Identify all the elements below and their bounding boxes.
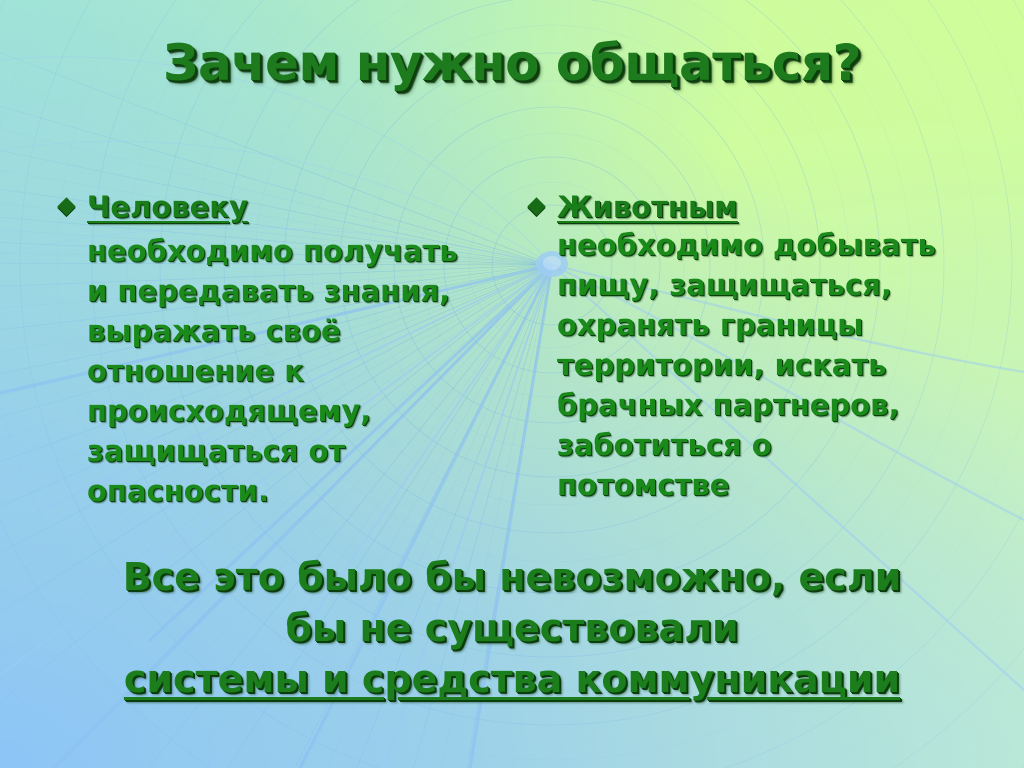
column-animals-body: необходимо добывать пищу, защищаться, ох…: [557, 225, 970, 505]
content-columns: Человеку необходимо получать и передават…: [0, 190, 1024, 540]
text-line: территории, искать: [557, 345, 970, 385]
text-line: защищаться от: [87, 431, 510, 471]
slide-title: Зачем нужно общаться?: [0, 34, 1024, 92]
text-line: потомстве: [557, 465, 970, 505]
column-human: Человеку необходимо получать и передават…: [60, 190, 510, 511]
diamond-bullet-icon: [57, 197, 75, 215]
text-line: отношение к: [87, 351, 510, 391]
column-animals-lead: Животным: [557, 190, 738, 225]
column-human-lead: Человеку: [87, 190, 248, 225]
text-line: брачных партнеров,: [557, 385, 970, 425]
diamond-bullet-icon: [527, 197, 545, 215]
text-line: необходимо получать: [87, 231, 510, 271]
column-animals: Животным необходимо добывать пищу, защищ…: [530, 190, 970, 505]
text-line: охранять границы: [557, 305, 970, 345]
column-human-body: необходимо получать и передавать знания,…: [87, 231, 510, 511]
slide-conclusion: Все это было бы невозможно, если бы не с…: [0, 552, 1024, 705]
text-line: опасности.: [87, 471, 510, 511]
conclusion-line-2: бы не существовали: [0, 603, 1024, 654]
text-line: происходящему,: [87, 391, 510, 431]
conclusion-line-1: Все это было бы невозможно, если: [0, 552, 1024, 603]
text-line: заботиться о: [557, 425, 970, 465]
bullet-row-animals: Животным: [530, 190, 970, 225]
bullet-row-human: Человеку: [60, 190, 510, 225]
conclusion-line-3: системы и средства коммуникации: [0, 654, 1024, 705]
presentation-slide: Зачем нужно общаться? Человеку необходим…: [0, 0, 1024, 768]
text-line: и передавать знания,: [87, 271, 510, 311]
text-line: необходимо добывать: [557, 225, 970, 265]
text-line: выражать своё: [87, 311, 510, 351]
text-line: пищу, защищаться,: [557, 265, 970, 305]
